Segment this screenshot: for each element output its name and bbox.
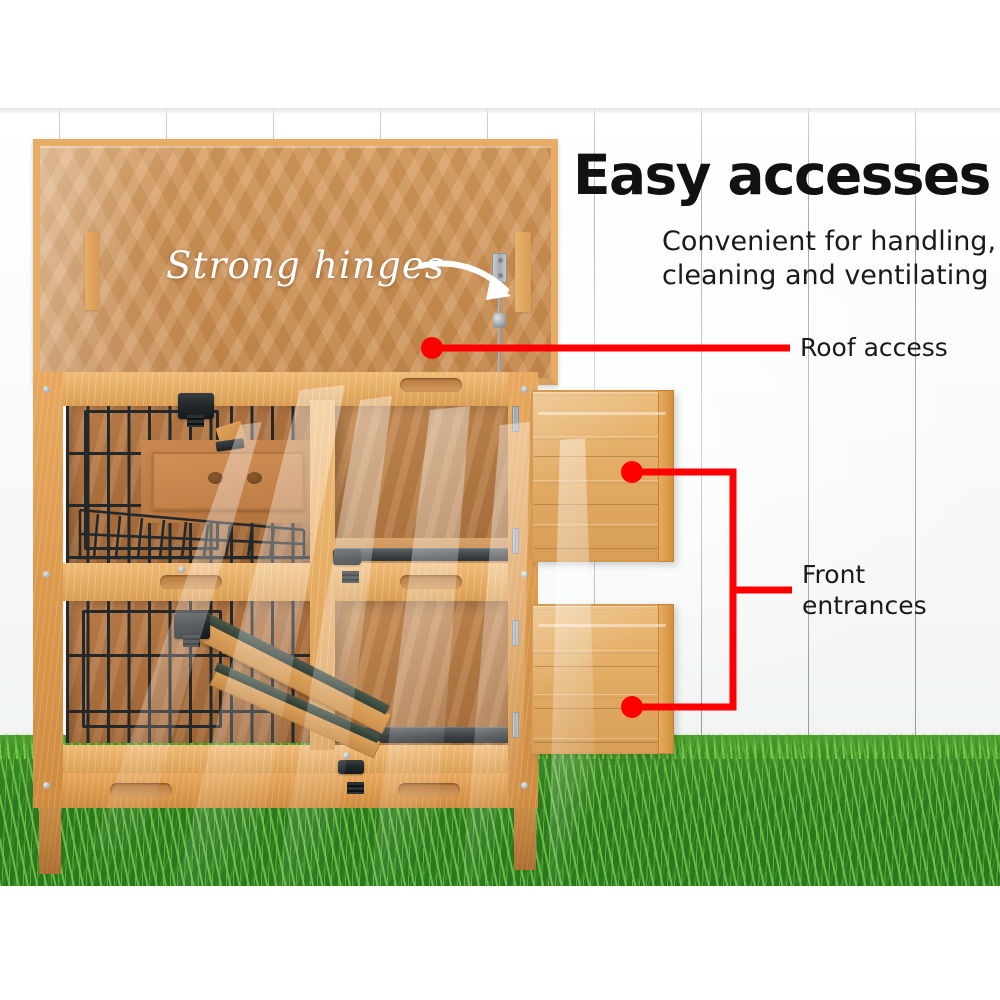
subtitle-line-2: cleaning and ventilating xyxy=(662,259,992,293)
subtitle: Convenient for handling, cleaning and ve… xyxy=(662,225,992,293)
callout-front-entrances-connector xyxy=(632,472,792,707)
page-title: Easy accesses xyxy=(573,148,990,203)
product-banner: Strong hinges Easy accesses Convenient f… xyxy=(0,0,1000,1000)
callout-label-front-line-2: entrances xyxy=(802,591,927,622)
subtitle-line-1: Convenient for handling, xyxy=(662,225,992,259)
callout-label-front-line-1: Front xyxy=(802,560,927,591)
callout-dot-upper-door xyxy=(621,461,643,483)
callout-label-front-entrances: Front entrances xyxy=(802,560,927,621)
callout-roof-access-connector xyxy=(421,337,790,359)
callout-dot-lower-door xyxy=(621,696,643,718)
callout-label-roof-access: Roof access xyxy=(800,333,948,364)
